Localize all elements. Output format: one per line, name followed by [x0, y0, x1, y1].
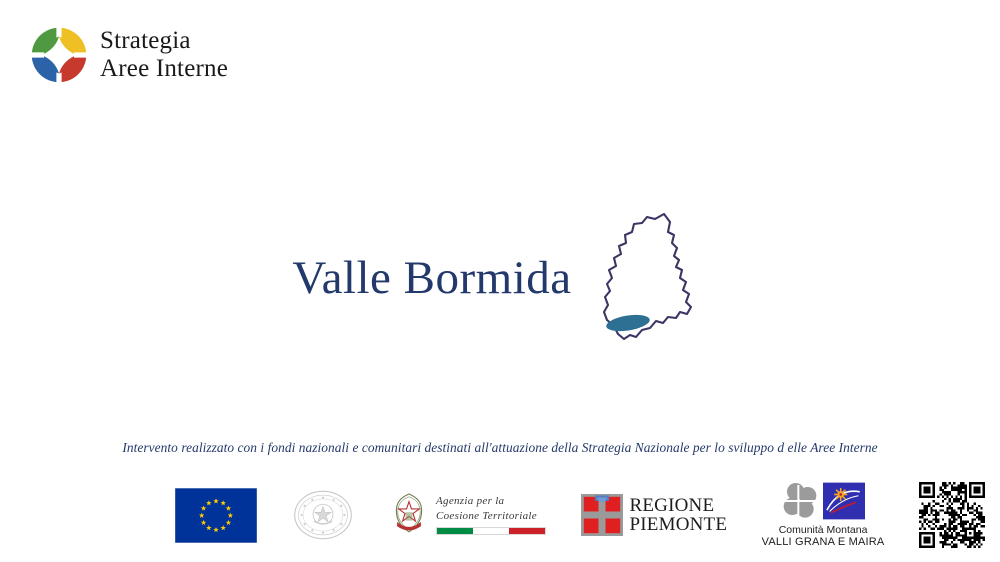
- qr-logo-cell: [919, 482, 985, 548]
- emblema-repubblica-italiana-icon: [388, 491, 430, 539]
- piemonte-cross-icon: [581, 494, 623, 536]
- agenzia-logo-cell: Agenzia per la Coesione Territoriale: [388, 482, 546, 548]
- agenzia-line-2: Coesione Territoriale: [436, 510, 546, 524]
- strategia-aree-interne-circle-icon: [30, 26, 88, 84]
- funding-note: Intervento realizzato con i fondi nazion…: [0, 440, 1000, 456]
- piemonte-logo-cell: REGIONE PIEMONTE: [581, 482, 728, 548]
- regione-piemonte-logo: REGIONE PIEMONTE: [581, 494, 728, 536]
- european-union-flag-icon: [175, 488, 257, 543]
- brand-line-1: Strategia: [100, 27, 228, 55]
- brand-wordmark: Strategia Aree Interne: [100, 27, 228, 83]
- comunita-line-2: VALLI GRANA E MAIRA: [762, 536, 885, 549]
- comunita-line-1: Comunità Montana: [779, 524, 868, 536]
- qr-code[interactable]: [919, 482, 985, 548]
- agenzia-wordmark: Agenzia per la Coesione Territoriale: [436, 495, 546, 536]
- agenzia-line-1: Agenzia per la: [436, 495, 546, 509]
- comunita-marks: [781, 481, 865, 521]
- comunita-montana-valli-grana-e-maira-logo: Comunità Montana VALLI GRANA E MAIRA: [762, 481, 885, 549]
- partner-logo-strip: Agenzia per la Coesione Territoriale: [175, 480, 985, 550]
- eu-logo-cell: [175, 482, 257, 548]
- piemonte-line-2: PIEMONTE: [630, 515, 728, 534]
- comunita-wordmark: Comunità Montana VALLI GRANA E MAIRA: [762, 524, 885, 549]
- italian-tricolor-bar: [436, 527, 546, 535]
- agenzia-coesione-territoriale-logo: Agenzia per la Coesione Territoriale: [388, 491, 546, 539]
- piemonte-line-1: REGIONE: [630, 496, 728, 515]
- comunita-montana-clover-icon: [781, 481, 821, 521]
- repubblica-italiana-seal-icon: [292, 489, 354, 541]
- page-title: Valle Bormida: [292, 251, 571, 305]
- comunita-logo-cell: Comunità Montana VALLI GRANA E MAIRA: [762, 482, 885, 548]
- repubblica-logo-cell: [292, 482, 354, 548]
- piemonte-region-map-icon: [590, 208, 708, 348]
- piemonte-wordmark: REGIONE PIEMONTE: [630, 496, 728, 534]
- brand-line-2: Aree Interne: [100, 55, 228, 83]
- valli-grana-maira-badge-icon: [823, 482, 865, 520]
- hero-section: Valle Bormida: [0, 198, 1000, 358]
- brand-header: Strategia Aree Interne: [30, 26, 228, 84]
